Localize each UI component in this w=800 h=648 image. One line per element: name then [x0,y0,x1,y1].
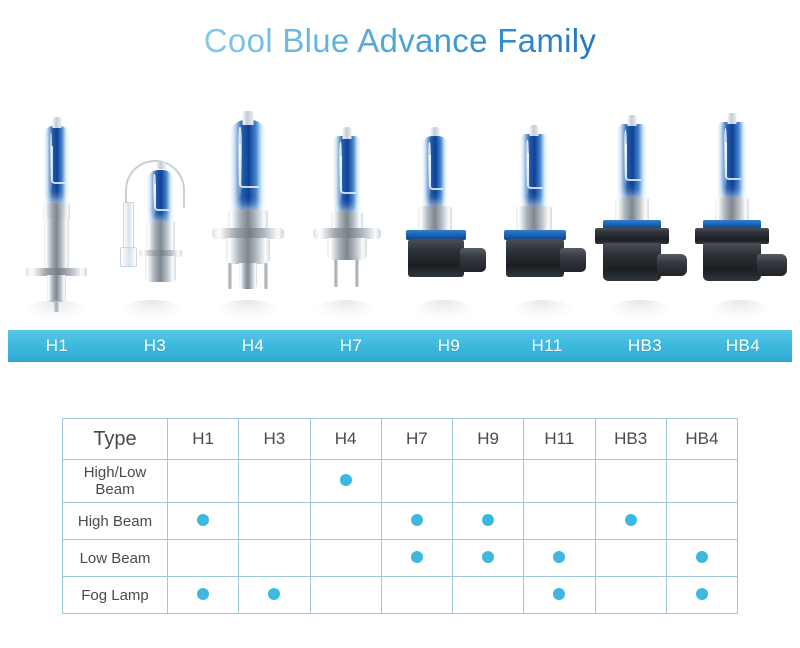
cell-fog-lamp-h9 [453,577,524,614]
cell-fog-lamp-h3 [239,577,310,614]
cell-low-beam-h7 [381,540,452,577]
cell-high-beam-hb4 [666,503,737,540]
cell-high-low-beam-h7 [381,460,452,503]
cell-high-low-beam-hb4 [666,460,737,503]
cell-high-beam-h1 [168,503,239,540]
column-header-h7: H7 [381,419,452,460]
table-row: High/Low Beam [63,460,738,503]
cell-fog-lamp-h1 [168,577,239,614]
bulb-image-h11 [494,96,590,328]
cell-fog-lamp-h7 [381,577,452,614]
bulb-application-table: Type H1 H3 H4 H7 H9 H11 HB3 HB4 High/Low… [62,418,738,614]
cell-high-beam-h7 [381,503,452,540]
column-header-hb3: HB3 [595,419,666,460]
availability-dot [482,551,494,563]
column-header-hb4: HB4 [666,419,737,460]
dot-marker [553,550,565,567]
cell-high-low-beam-h9 [453,460,524,503]
strip-label-h9: H9 [400,336,498,356]
column-header-h11: H11 [524,419,595,460]
title-container: Cool Blue Advance Family [0,22,800,60]
availability-dot [197,514,209,526]
cell-low-beam-hb3 [595,540,666,577]
bulb-image-h7 [298,96,394,328]
strip-label-h3: H3 [106,336,204,356]
availability-dot [340,474,352,486]
row-label-fog-lamp: Fog Lamp [63,577,168,614]
column-header-h9: H9 [453,419,524,460]
dot-marker [268,587,280,604]
row-label-text: High/Low Beam [84,464,147,498]
dot-marker [696,550,708,567]
table-row: High Beam [63,503,738,540]
row-label-text: Fog Lamp [81,587,149,604]
strip-label-h11: H11 [498,336,596,356]
cell-low-beam-h11 [524,540,595,577]
table-row: Fog Lamp [63,577,738,614]
availability-dot [553,551,565,563]
dot-marker [411,513,423,530]
cell-low-beam-h1 [168,540,239,577]
availability-dot [625,514,637,526]
availability-dot [553,588,565,600]
bulb-image-h4 [200,96,296,328]
bulb-image-h3 [104,96,200,328]
strip-label-h7: H7 [302,336,400,356]
column-header-type: Type [63,419,168,460]
cell-high-low-beam-hb3 [595,460,666,503]
availability-dot [482,514,494,526]
table-row: Low Beam [63,540,738,577]
cell-high-beam-hb3 [595,503,666,540]
row-label-high-low-beam: High/Low Beam [63,460,168,503]
row-label-high-beam: High Beam [63,503,168,540]
row-label-text: Low Beam [80,550,151,567]
cell-high-low-beam-h1 [168,460,239,503]
cell-high-beam-h11 [524,503,595,540]
cell-fog-lamp-hb3 [595,577,666,614]
strip-label-hb4: HB4 [694,336,792,356]
table-header-row: Type H1 H3 H4 H7 H9 H11 HB3 HB4 [63,419,738,460]
bulb-type-label-strip: H1 H3 H4 H7 H9 H11 HB3 HB4 [8,330,792,362]
dot-marker [482,550,494,567]
cell-low-beam-h4 [310,540,381,577]
cell-low-beam-hb4 [666,540,737,577]
bulb-image-h9 [396,96,492,328]
availability-dot [696,551,708,563]
cell-high-low-beam-h11 [524,460,595,503]
cell-high-low-beam-h3 [239,460,310,503]
bulb-image-h1 [8,96,104,328]
cell-high-beam-h9 [453,503,524,540]
cell-fog-lamp-h11 [524,577,595,614]
bulb-image-hb3 [592,96,688,328]
dot-marker [482,513,494,530]
availability-dot [411,514,423,526]
dot-marker [553,587,565,604]
column-header-h1: H1 [168,419,239,460]
strip-label-h4: H4 [204,336,302,356]
bulb-image-hb4 [692,96,788,328]
column-header-h4: H4 [310,419,381,460]
row-label-low-beam: Low Beam [63,540,168,577]
cell-high-beam-h4 [310,503,381,540]
dot-marker [411,550,423,567]
column-header-h3: H3 [239,419,310,460]
cell-fog-lamp-h4 [310,577,381,614]
dot-marker [197,513,209,530]
strip-label-hb3: HB3 [596,336,694,356]
page-title: Cool Blue Advance Family [204,22,596,60]
availability-dot [197,588,209,600]
availability-dot [411,551,423,563]
dot-marker [340,473,352,490]
dot-marker [625,513,637,530]
dot-marker [197,587,209,604]
cell-low-beam-h3 [239,540,310,577]
cell-fog-lamp-hb4 [666,577,737,614]
availability-dot [268,588,280,600]
cell-low-beam-h9 [453,540,524,577]
cell-high-beam-h3 [239,503,310,540]
bulb-showcase [8,96,792,328]
strip-label-h1: H1 [8,336,106,356]
availability-dot [696,588,708,600]
cell-high-low-beam-h4 [310,460,381,503]
row-label-text: High Beam [78,513,152,530]
table-body: High/Low Beam High Beam Low Beam [63,460,738,614]
dot-marker [696,587,708,604]
